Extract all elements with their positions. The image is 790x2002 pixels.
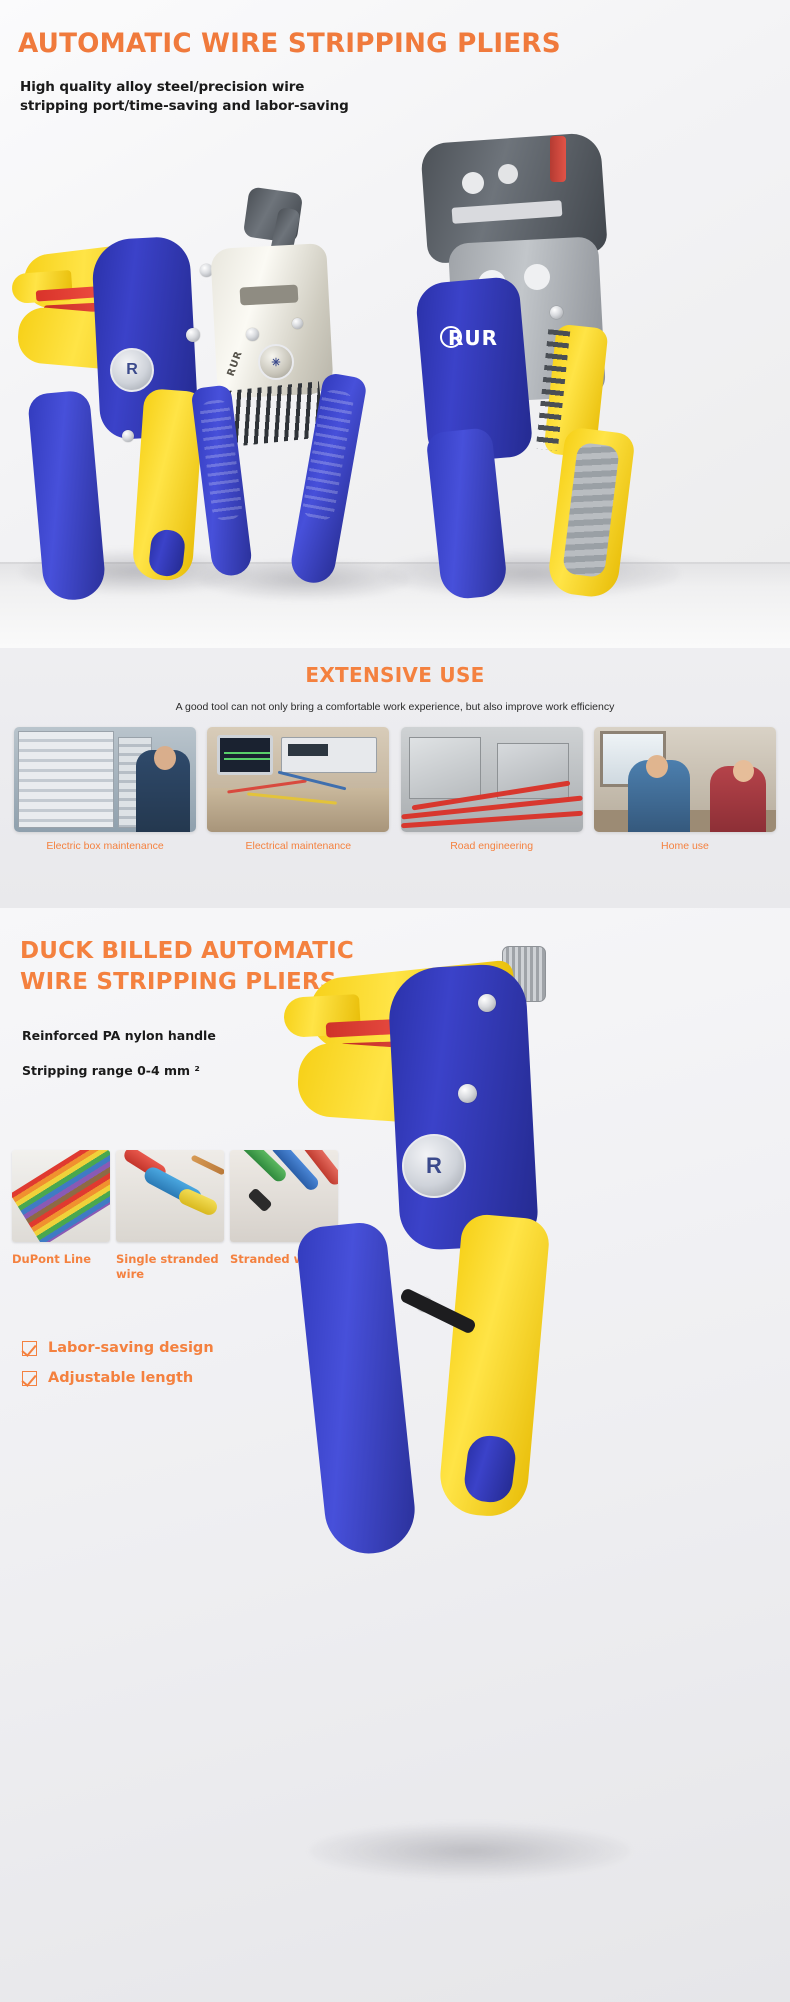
spec-stripping-range: Stripping range 0-4 mm ² — [22, 1063, 200, 1078]
hero-subtitle-line-1: High quality alloy steel/precision wire — [20, 78, 349, 97]
road-engineering-photo — [401, 727, 583, 832]
electrical-bench-photo — [207, 727, 389, 832]
use-case-caption: Road engineering — [401, 832, 583, 853]
technician-head — [154, 746, 176, 770]
duck-brand-badge: R — [402, 1134, 466, 1198]
wire-caption: DuPont Line — [12, 1252, 110, 1282]
duck-brand-letter: R — [426, 1153, 442, 1179]
workbench — [207, 788, 389, 832]
use-case-item: Road engineering — [401, 727, 583, 853]
use-case-caption: Electrical maintenance — [207, 832, 389, 853]
cabinet-panel — [18, 731, 114, 828]
feature-row: Adjustable length — [22, 1370, 214, 1386]
hero-product-photo: R ✳ RUR — [0, 120, 790, 648]
duck-body — [387, 963, 540, 1252]
use-case-item: Home use — [594, 727, 776, 853]
feature-list: Labor-saving design Adjustable length — [22, 1340, 214, 1400]
feature-row: Labor-saving design — [22, 1340, 214, 1356]
left-brand-letter: R — [126, 361, 138, 379]
right-body-hole-2 — [524, 264, 550, 290]
left-rivet-mid — [186, 328, 200, 342]
left-rivet-low — [122, 430, 134, 442]
extensive-use-title: EXTENSIVE USE — [0, 648, 790, 687]
person-man-head — [646, 755, 668, 778]
hero-title: AUTOMATIC WIRE STRIPPING PLIERS — [18, 28, 561, 59]
right-brand-ring — [440, 326, 462, 348]
use-case-grid: Electric box maintenance Electrical main… — [0, 713, 790, 853]
hero-section: AUTOMATIC WIRE STRIPPING PLIERS High qua… — [0, 0, 790, 648]
hero-subtitle: High quality alloy steel/precision wire … — [20, 78, 349, 116]
wire-caption: Single stranded wire — [116, 1252, 224, 1282]
plier-right: RUR — [400, 130, 700, 600]
home-use-photo — [594, 727, 776, 832]
person-woman-head — [733, 760, 754, 782]
duck-shadow — [310, 1824, 630, 1878]
multimeter — [281, 737, 377, 773]
mid-spring — [227, 381, 324, 446]
hero-subtitle-line-2: stripping port/time-saving and labor-sav… — [20, 97, 349, 116]
use-case-item: Electrical maintenance — [207, 727, 389, 853]
duck-billed-section: DUCK BILLED AUTOMATIC WIRE STRIPPING PLI… — [0, 908, 790, 2002]
right-head-post — [550, 136, 566, 182]
extensive-use-section: EXTENSIVE USE A good tool can not only b… — [0, 648, 790, 908]
mid-chrome-notch — [240, 284, 299, 305]
copper-conductor — [191, 1154, 224, 1175]
spec-handle: Reinforced PA nylon handle — [22, 1028, 216, 1043]
check-icon — [22, 1371, 37, 1386]
electric-box-photo — [14, 727, 196, 832]
right-head-hole-2 — [498, 164, 518, 184]
mid-brand-letter: ✳ — [271, 356, 280, 369]
extensive-use-subtitle: A good tool can not only bring a comfort… — [0, 687, 790, 713]
mid-rivet-2 — [292, 318, 303, 329]
ribbon-cable — [12, 1150, 110, 1242]
oscilloscope — [217, 735, 273, 775]
duck-product-photo: R — [270, 948, 790, 2002]
feature-label: Labor-saving design — [48, 1340, 214, 1356]
duck-rivet-mid — [458, 1084, 477, 1103]
left-blue-handle — [27, 390, 107, 603]
product-listing-page: AUTOMATIC WIRE STRIPPING PLIERS High qua… — [0, 0, 790, 2002]
stranded-black-tip — [247, 1187, 273, 1212]
right-head-hole-1 — [462, 172, 484, 194]
feature-label: Adjustable length — [48, 1370, 193, 1386]
dupont-line-photo — [12, 1150, 110, 1242]
check-icon — [22, 1341, 37, 1356]
left-brand-badge: R — [110, 348, 154, 392]
use-case-caption: Home use — [594, 832, 776, 853]
mid-gear: ✳ — [258, 344, 294, 380]
plier-middle: ✳ RUR — [200, 190, 380, 590]
duck-rivet-top — [478, 994, 496, 1012]
right-rivet-2 — [550, 306, 563, 319]
use-case-item: Electric box maintenance — [14, 727, 196, 853]
mid-rivet-1 — [246, 328, 259, 341]
concrete-slab-1 — [409, 737, 481, 799]
duck-blue-handle — [295, 1220, 419, 1558]
use-case-caption: Electric box maintenance — [14, 832, 196, 853]
single-stranded-wire-photo — [116, 1150, 224, 1242]
